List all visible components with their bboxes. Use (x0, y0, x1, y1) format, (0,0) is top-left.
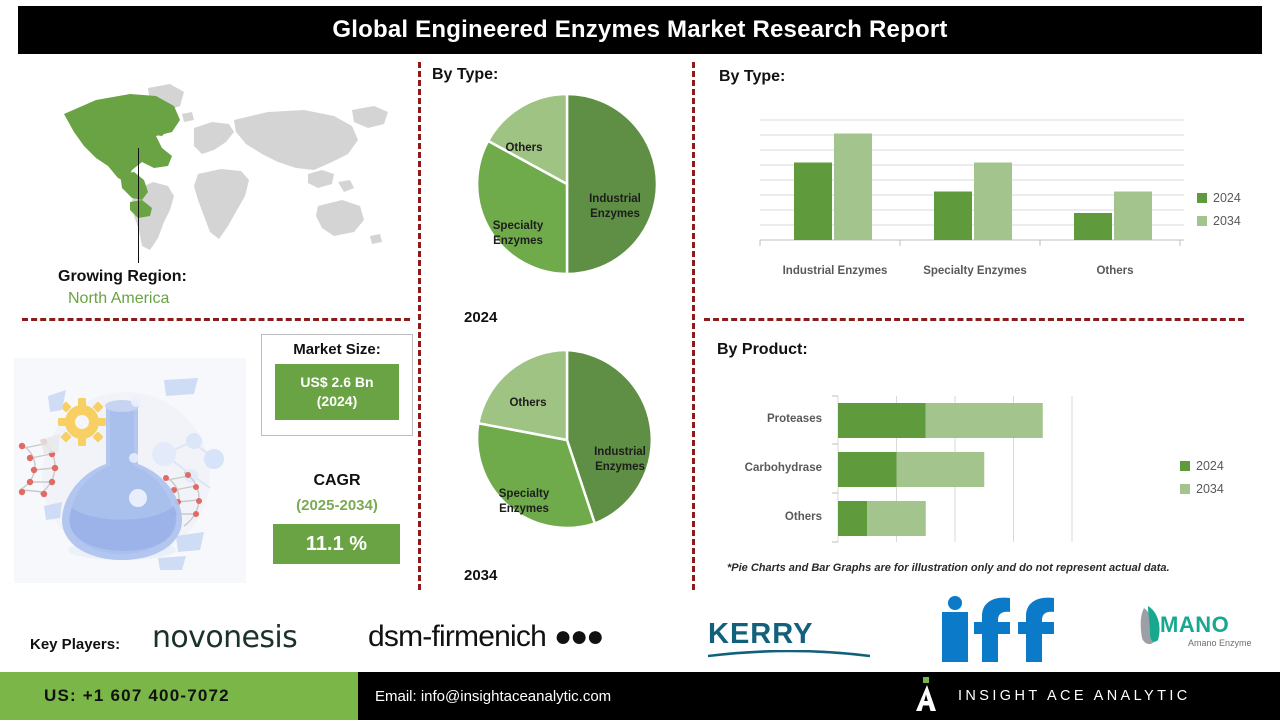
bar-industrial-2024 (794, 163, 832, 241)
horizontal-divider-left (22, 318, 410, 321)
chart-footnote: *Pie Charts and Bar Graphs are for illus… (727, 562, 1170, 574)
market-size-year: (2024) (317, 392, 357, 411)
brand-name: INSIGHT ACE ANALYTIC (958, 688, 1191, 704)
horizontal-bar-chart-svg (830, 392, 1080, 547)
logo-novonesis: novonesis (152, 620, 297, 655)
bar-others-2034 (1114, 192, 1152, 241)
hbar-others-2024 (838, 501, 867, 536)
bar-others-2024 (1074, 213, 1112, 240)
legend-label-2024-product: 2024 (1196, 459, 1224, 473)
horizontal-divider-right (704, 318, 1244, 321)
vbar-category-label-industrial: Industrial Enzymes (760, 265, 910, 277)
legend-swatch-2024 (1197, 193, 1207, 203)
middle-by-type-title: By Type: (432, 66, 498, 84)
dsm-dots-icon: ●●● (554, 620, 602, 654)
hbar-others-2034 (867, 501, 926, 536)
market-size-card: Market Size: US$ 2.6 Bn (2024) (261, 334, 413, 436)
pie-2034-year: 2034 (464, 567, 497, 584)
cagr-value-chip: 11.1 % (273, 524, 400, 564)
legend-label-2034-product: 2034 (1196, 482, 1224, 496)
legend-item-2024: 2024 (1197, 191, 1241, 205)
logo-dsm-firmenich: dsm-firmenich●●● (368, 620, 602, 654)
legend-item-2034: 2034 (1197, 214, 1241, 228)
key-players-label: Key Players: (30, 636, 120, 653)
bar-industrial-2034 (834, 134, 872, 241)
pie-chart-2024 (472, 89, 662, 279)
brand-block: INSIGHT ACE ANALYTIC (912, 672, 1191, 720)
svg-text:MANO: MANO (1160, 612, 1229, 637)
infographic-root: Global Engineered Enzymes Market Researc… (0, 0, 1280, 720)
legend-item-2034-product: 2034 (1180, 482, 1224, 496)
hbar-proteases-2024 (838, 403, 926, 438)
right-by-product-title: By Product: (717, 341, 808, 359)
flask-dna-illustration-icon (14, 358, 246, 583)
logo-amano-icon: MANO Amano Enzyme (1136, 604, 1260, 652)
logo-iff-icon (938, 596, 1074, 662)
header-bar: Global Engineered Enzymes Market Researc… (18, 6, 1262, 54)
right-by-type-title: By Type: (719, 68, 785, 86)
legend-swatch-2034 (1197, 216, 1207, 226)
hbar-carbohydrase-2024 (838, 452, 897, 487)
legend-swatch-2034-product (1180, 484, 1190, 494)
cagr-period: (2025-2034) (261, 497, 413, 514)
market-size-value: US$ 2.6 Bn (300, 373, 373, 392)
pie-chart-2034 (472, 345, 662, 535)
flask-illustration (14, 358, 246, 583)
market-size-title: Market Size: (293, 341, 381, 358)
world-map-icon (22, 70, 412, 270)
hbar-category-label-carbohydrase: Carbohydrase (700, 462, 822, 474)
logo-amano-tagline: Amano Enzyme (1188, 638, 1252, 648)
growing-region-value: North America (68, 290, 169, 308)
cagr-title: CAGR (261, 472, 413, 490)
legend-label-2024: 2024 (1213, 191, 1241, 205)
hbar-category-label-proteases: Proteases (700, 413, 822, 425)
hbar-carbohydrase-2034 (897, 452, 985, 487)
vertical-divider-right (692, 62, 695, 590)
vertical-bar-chart-svg (752, 112, 1192, 262)
kerry-swoosh-icon (708, 650, 870, 658)
bar-specialty-2034 (974, 163, 1012, 241)
horizontal-bar-chart-legend: 2024 2034 (1180, 459, 1224, 496)
vbar-category-label-specialty: Specialty Enzymes (900, 265, 1050, 277)
vbar-category-label-others: Others (1040, 265, 1190, 277)
page-title: Global Engineered Enzymes Market Researc… (332, 16, 947, 44)
market-size-chip: US$ 2.6 Bn (2024) (275, 364, 399, 420)
horizontal-bar-chart (830, 392, 1080, 547)
vertical-bar-chart-legend: 2024 2034 (1197, 191, 1241, 228)
hbar-category-label-others: Others (700, 511, 822, 523)
vertical-bar-chart (752, 112, 1192, 262)
contact-phone: US: +1 607 400-7072 (44, 686, 230, 706)
contact-phone-bar: US: +1 607 400-7072 (0, 672, 358, 720)
bar-specialty-2024 (934, 192, 972, 241)
pie-2024-year: 2024 (464, 309, 497, 326)
hbar-proteases-2034 (926, 403, 1043, 438)
map-pointer-line (138, 148, 139, 263)
world-map (22, 70, 412, 270)
growing-region-label: Growing Region: (58, 268, 187, 286)
logo-dsm-firmenich-text: dsm-firmenich (368, 620, 546, 653)
vertical-divider-left (418, 62, 421, 590)
legend-swatch-2024-product (1180, 461, 1190, 471)
logo-kerry: KERRY (708, 618, 813, 651)
contact-email: Email: info@insightaceanalytic.com (375, 688, 611, 705)
legend-label-2034: 2034 (1213, 214, 1241, 228)
insight-ace-a-logo-icon (912, 677, 944, 715)
legend-item-2024-product: 2024 (1180, 459, 1224, 473)
